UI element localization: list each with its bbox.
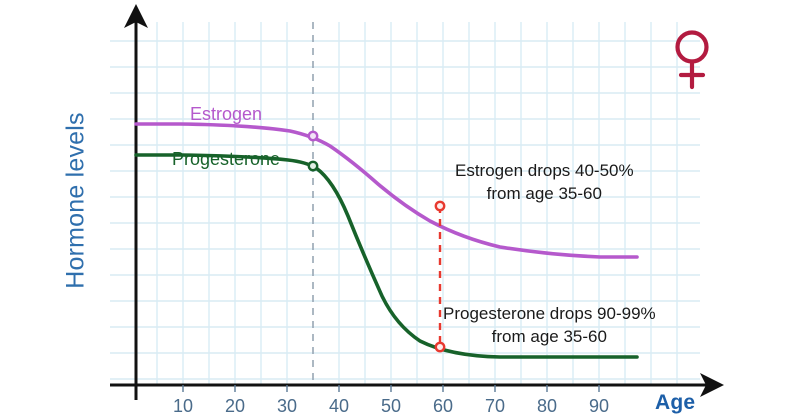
annotation-progesterone-line2: from age 35-60 <box>443 326 656 349</box>
annotation-progesterone: Progesterone drops 90-99% from age 35-60 <box>443 303 656 349</box>
marker-estrogen-age-35 <box>309 132 317 140</box>
x-tick-label-30: 30 <box>267 396 307 417</box>
hormone-levels-chart: Hormone levels Age 10 20 30 40 50 60 70 … <box>0 0 800 420</box>
y-axis-title: Hormone levels <box>62 101 91 301</box>
series-label-estrogen: Estrogen <box>190 104 262 125</box>
x-tick-label-60: 60 <box>423 396 463 417</box>
x-tick-label-40: 40 <box>319 396 359 417</box>
annotation-estrogen: Estrogen drops 40-50% from age 35-60 <box>455 160 634 206</box>
marker-estrogen-age-60 <box>436 202 444 210</box>
x-axis-title: Age <box>655 391 695 415</box>
venus-female-symbol-icon <box>668 28 716 90</box>
annotation-progesterone-line1: Progesterone drops 90-99% <box>443 303 656 326</box>
x-tick-label-10: 10 <box>163 396 203 417</box>
x-tick-label-50: 50 <box>371 396 411 417</box>
annotation-estrogen-line2: from age 35-60 <box>455 183 634 206</box>
x-tick-label-20: 20 <box>215 396 255 417</box>
x-tick-label-70: 70 <box>475 396 515 417</box>
annotation-estrogen-line1: Estrogen drops 40-50% <box>455 160 634 183</box>
x-tick-label-80: 80 <box>527 396 567 417</box>
series-label-progesterone: Progesterone <box>172 149 280 170</box>
x-tick-label-90: 90 <box>579 396 619 417</box>
marker-progesterone-age-35 <box>309 162 317 170</box>
